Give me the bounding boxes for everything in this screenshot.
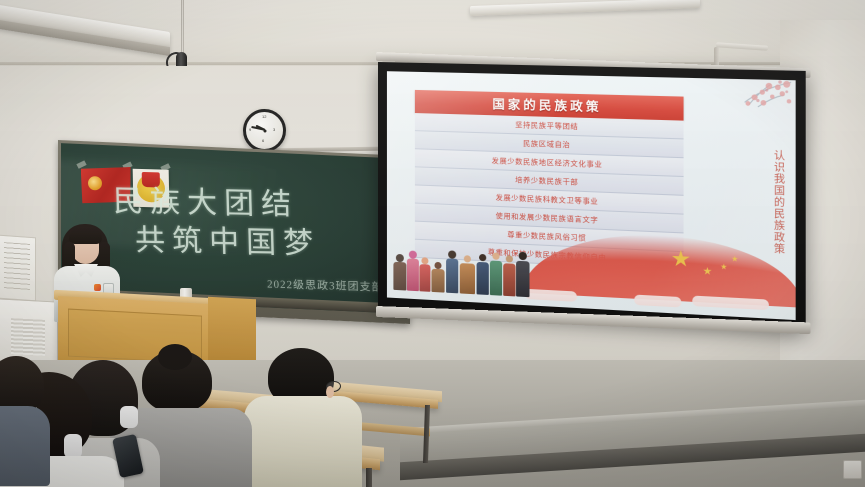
power-outlet[interactable] (843, 460, 862, 479)
face-mask-icon (120, 406, 138, 428)
wall-clock: 12 3 6 9 (243, 109, 286, 152)
student-far-left (0, 356, 58, 476)
school-badge-icon (94, 284, 101, 291)
classroom-photo: 12 3 6 9 民族大团结 共筑中国梦 2022级思政3班团支部 (0, 0, 865, 487)
blackboard-signature: 2022级思政3班团支部 (267, 276, 384, 295)
vent-grid-icon (11, 318, 45, 356)
microphone-rod (181, 0, 184, 56)
blackboard-line-2: 共筑中国梦 (134, 215, 320, 263)
face-mask-icon (64, 434, 82, 458)
presentation-slide: 国家的民族政策 坚持民族平等团结 民族区域自治 发展少数民族地区经济文化事业 培… (387, 71, 796, 320)
flag-emblem-icon (88, 176, 102, 190)
ethnic-costume-figures (393, 234, 531, 298)
projector-screen[interactable]: 国家的民族政策 坚持民族平等团结 民族区域自治 发展少数民族地区经济文化事业 培… (378, 62, 806, 330)
slide-side-caption: 认识我国的民族政策 (767, 122, 785, 281)
wall-document (0, 235, 36, 302)
student-right (250, 348, 370, 487)
